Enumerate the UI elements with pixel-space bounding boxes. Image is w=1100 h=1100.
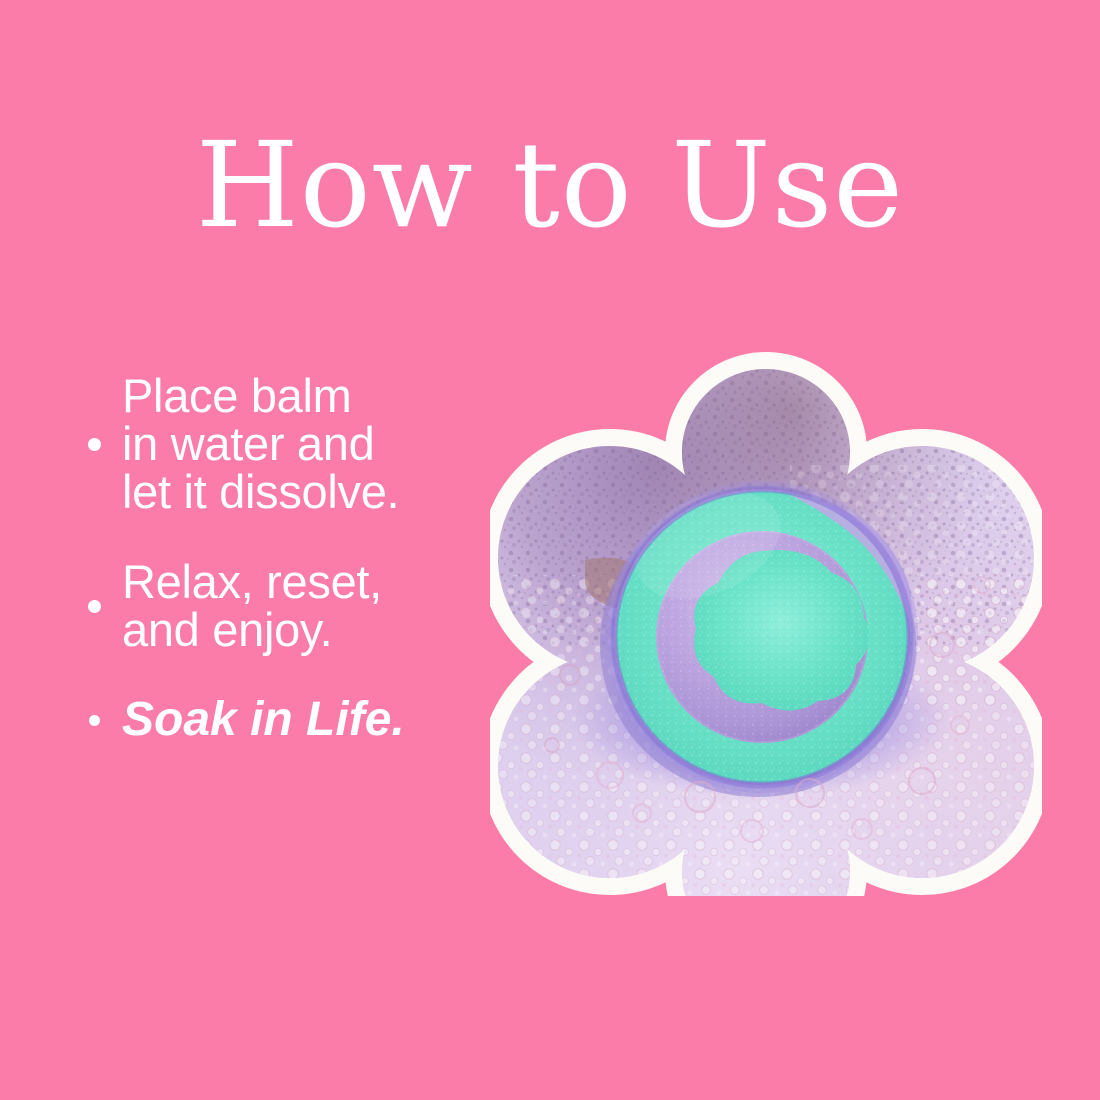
list-item: Place balm in water and let it dissolve.: [66, 372, 486, 516]
step-text: Place balm in water and let it dissolve.: [122, 372, 399, 516]
bullet-icon: [66, 600, 122, 613]
steps-list: Place balm in water and let it dissolve.…: [66, 372, 486, 744]
promo-card: How to Use Place balm in water and let i…: [0, 0, 1100, 1100]
product-photo-flower: [490, 345, 1042, 896]
step-text: Soak in Life.: [122, 696, 405, 744]
list-item: Relax, reset, and enjoy.: [66, 558, 486, 654]
bath-bomb-photo: [490, 345, 1042, 896]
page-title: How to Use: [0, 124, 1100, 248]
list-item: Soak in Life.: [66, 696, 486, 744]
bullet-icon: [66, 438, 122, 451]
flower-frame-icon: [490, 345, 1042, 896]
step-text: Relax, reset, and enjoy.: [122, 558, 382, 654]
bullet-icon: [66, 715, 122, 726]
